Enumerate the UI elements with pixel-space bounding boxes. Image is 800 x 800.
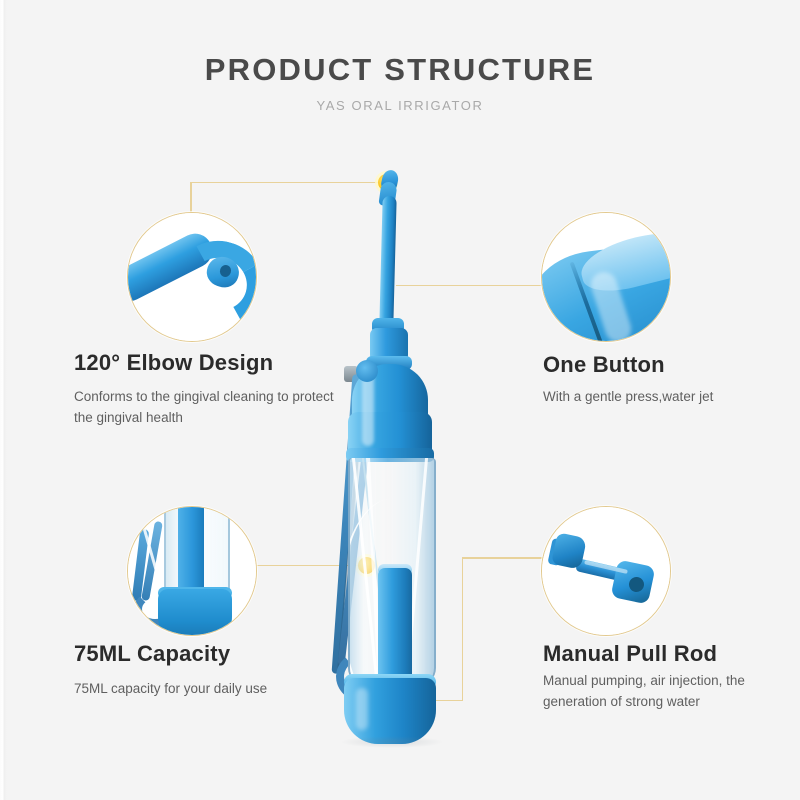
feature-title-elbow: 120° Elbow Design xyxy=(74,350,273,376)
callout-circle-elbow xyxy=(127,212,257,342)
tank-base-illustration xyxy=(128,507,256,635)
feature-title-capacity: 75ML Capacity xyxy=(74,641,230,667)
product-head-highlight xyxy=(362,372,374,446)
elbow-nozzle-illustration xyxy=(128,213,256,341)
feature-description-button: With a gentle press,water jet xyxy=(543,386,793,407)
callout-circle-capacity xyxy=(127,506,257,636)
inner-pull-rod xyxy=(378,568,412,686)
nozzle-shaft xyxy=(379,196,396,326)
callout-circle-pullrod xyxy=(541,506,671,636)
product-illustration xyxy=(300,160,500,740)
feature-description-capacity: 75ML capacity for your daily use xyxy=(74,678,334,699)
connector-line-elbow-vertical xyxy=(190,182,192,216)
page-title: PRODUCT STRUCTURE xyxy=(0,52,800,88)
feature-title-pullrod: Manual Pull Rod xyxy=(543,641,717,667)
infographic-page: PRODUCT STRUCTURE YAS ORAL IRRIGATOR xyxy=(0,0,800,800)
pull-rod-illustration xyxy=(542,507,670,635)
feature-description-pullrod: Manual pumping, air injection, the gener… xyxy=(543,670,783,712)
product-press-button xyxy=(356,360,378,382)
callout-circle-button xyxy=(541,212,671,342)
left-edge-stripe xyxy=(0,0,7,800)
page-subtitle: YAS ORAL IRRIGATOR xyxy=(0,98,800,113)
feature-description-elbow: Conforms to the gingival cleaning to pro… xyxy=(74,386,334,428)
feature-title-button: One Button xyxy=(543,352,665,378)
product-base-highlight xyxy=(356,688,368,730)
tank-base-cap xyxy=(158,589,232,636)
press-button-illustration xyxy=(542,213,670,341)
product-ground-shadow xyxy=(340,736,444,748)
product-water-tank xyxy=(348,458,436,686)
